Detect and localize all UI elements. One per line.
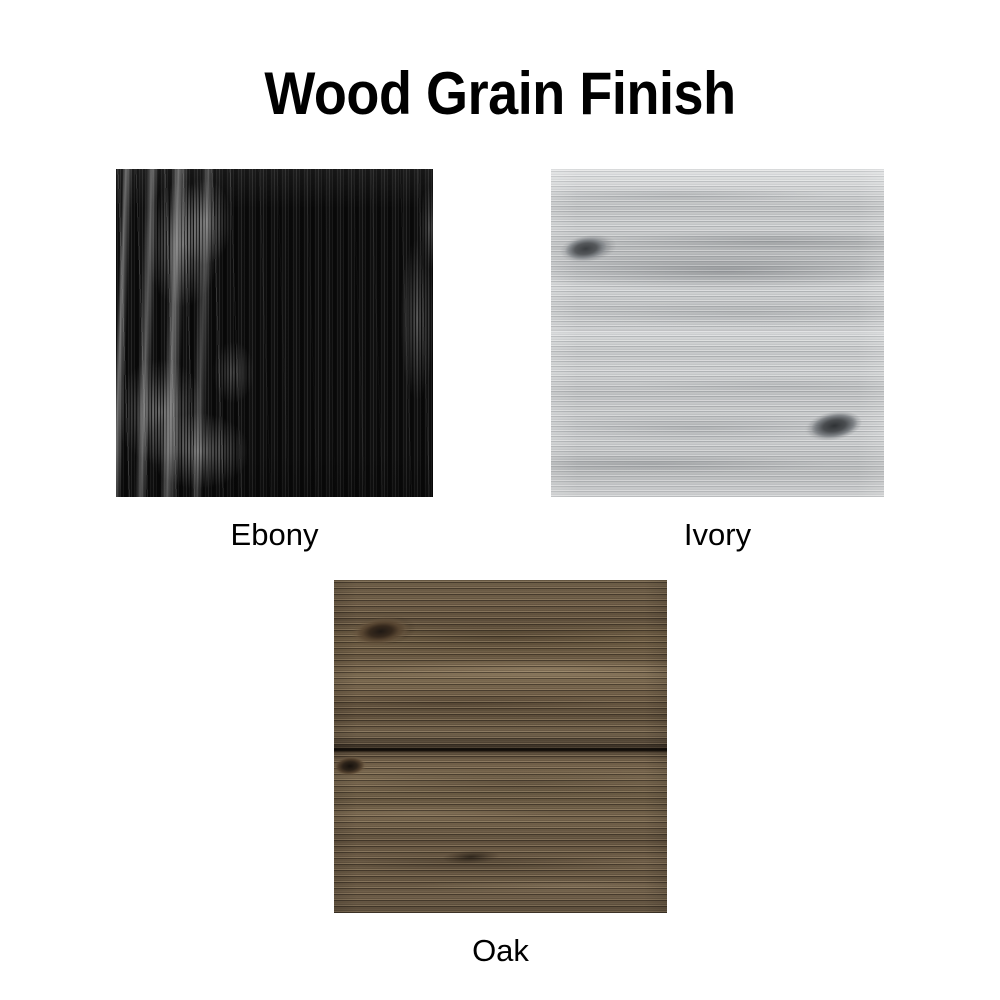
swatch-image-ebony[interactable] [116,169,433,497]
ebony-weathered-patch-layer [116,169,433,497]
oak-plank-seam [334,748,667,752]
ebony-distress-lines-layer [116,169,433,497]
swatch-image-oak[interactable] [334,580,667,913]
ivory-knot-lower-right [795,402,872,450]
swatch-group-ebony[interactable]: Ebony [116,169,433,552]
ivory-tonal-band-layer [551,169,884,497]
ebony-tonal-band-layer [116,169,433,497]
swatch-label-ebony: Ebony [116,518,433,552]
page-title: Wood Grain Finish [50,62,950,125]
ebony-grain-fibre-layer [116,169,433,497]
swatch-image-ivory[interactable] [551,169,884,497]
oak-knot-upper-left [342,609,426,654]
swatch-label-oak: Oak [334,934,667,968]
swatch-group-oak[interactable]: Oak [334,580,667,968]
ebony-vignette-layer [116,169,433,497]
ivory-plank-seam [551,330,884,333]
oak-knot-lower-center [427,844,516,871]
ebony-base-layer [116,169,433,497]
ivory-base-layer [551,169,884,497]
ivory-knot-upper-left [556,227,626,270]
wood-finish-swatch-page: { "page": { "title": "Wood Grain Finish"… [0,0,1000,1000]
ebony-distress-streaks-layer [116,169,433,497]
ivory-grain-arc-layer [551,169,884,497]
ivory-grain-fibre-layer [551,169,884,497]
oak-knot-lower-left [334,751,374,781]
swatch-label-ivory: Ivory [551,518,884,552]
ivory-vignette-layer [551,169,884,497]
swatch-group-ivory[interactable]: Ivory [551,169,884,552]
